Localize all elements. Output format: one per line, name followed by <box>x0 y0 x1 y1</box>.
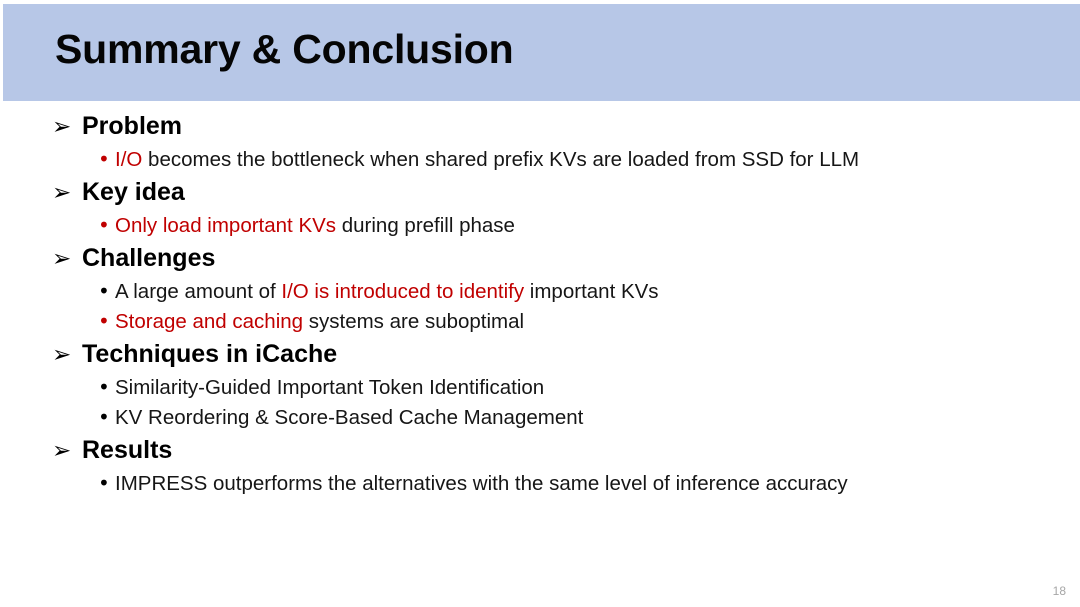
page-number: 18 <box>1053 584 1066 598</box>
text-run: Only load important KVs <box>115 214 336 237</box>
bullet-level1-row: ➢Key idea <box>0 178 1080 214</box>
bullet-level1-row: ➢Challenges <box>0 244 1080 280</box>
bullet-group: ➢Results•IMPRESS outperforms the alterna… <box>0 436 1080 502</box>
arrow-bullet-icon: ➢ <box>52 116 82 139</box>
text-run: during prefill phase <box>336 214 515 237</box>
bullet-level2-text: Similarity-Guided Important Token Identi… <box>115 376 544 400</box>
bullet-level1-row: ➢Problem <box>0 112 1080 148</box>
bullet-level2-row: •IMPRESS outperforms the alternatives wi… <box>0 472 1080 502</box>
text-run: becomes the bottleneck when shared prefi… <box>142 148 859 171</box>
bullet-level1-label: Challenges <box>82 244 215 273</box>
bullet-level2-text: A large amount of I/O is introduced to i… <box>115 280 659 304</box>
slide-canvas: Summary & Conclusion ➢Problem•I/O become… <box>0 0 1080 607</box>
arrow-bullet-icon: ➢ <box>52 248 82 271</box>
arrow-bullet-icon: ➢ <box>52 440 82 463</box>
dot-bullet-icon: • <box>98 407 115 427</box>
text-run: Similarity-Guided Important Token Identi… <box>115 376 544 399</box>
bullet-level2-text: IMPRESS outperforms the alternatives wit… <box>115 472 848 496</box>
page-title: Summary & Conclusion <box>55 26 513 73</box>
bullet-level1-label: Techniques in iCache <box>82 340 337 369</box>
text-run: Storage and caching <box>115 310 303 333</box>
text-run: systems are suboptimal <box>303 310 524 333</box>
dot-bullet-icon: • <box>98 149 115 169</box>
bullet-group: ➢Techniques in iCache•Similarity-Guided … <box>0 340 1080 436</box>
bullet-level2-row: •Similarity-Guided Important Token Ident… <box>0 376 1080 406</box>
text-run: important KVs <box>524 280 658 303</box>
bullet-level2-text: Storage and caching systems are suboptim… <box>115 310 524 334</box>
bullet-level2-row: •Only load important KVs during prefill … <box>0 214 1080 244</box>
text-run: I/O is introduced to identify <box>281 280 524 303</box>
bullet-group: ➢Key idea•Only load important KVs during… <box>0 178 1080 244</box>
bullet-group: ➢Problem•I/O becomes the bottleneck when… <box>0 112 1080 178</box>
bullet-level2-row: •Storage and caching systems are subopti… <box>0 310 1080 340</box>
dot-bullet-icon: • <box>98 473 115 493</box>
bullet-level2-text: KV Reordering & Score-Based Cache Manage… <box>115 406 583 430</box>
dot-bullet-icon: • <box>98 377 115 397</box>
bullet-group: ➢Challenges•A large amount of I/O is int… <box>0 244 1080 340</box>
dot-bullet-icon: • <box>98 281 115 301</box>
bullet-level2-text: Only load important KVs during prefill p… <box>115 214 515 238</box>
bullet-level2-row: •KV Reordering & Score-Based Cache Manag… <box>0 406 1080 436</box>
dot-bullet-icon: • <box>98 311 115 331</box>
text-run: A large amount of <box>115 280 281 303</box>
bullet-level2-text: I/O becomes the bottleneck when shared p… <box>115 148 859 172</box>
bullet-level2-row: •I/O becomes the bottleneck when shared … <box>0 148 1080 178</box>
title-banner: Summary & Conclusion <box>3 4 1080 101</box>
bullet-level2-row: •A large amount of I/O is introduced to … <box>0 280 1080 310</box>
bullet-level1-label: Key idea <box>82 178 185 207</box>
text-run: I/O <box>115 148 142 171</box>
text-run: IMPRESS outperforms the alternatives wit… <box>115 472 848 495</box>
text-run: KV Reordering & Score-Based Cache Manage… <box>115 406 583 429</box>
dot-bullet-icon: • <box>98 215 115 235</box>
arrow-bullet-icon: ➢ <box>52 182 82 205</box>
bullet-list: ➢Problem•I/O becomes the bottleneck when… <box>0 112 1080 502</box>
bullet-level1-row: ➢Techniques in iCache <box>0 340 1080 376</box>
bullet-level1-label: Results <box>82 436 172 465</box>
bullet-level1-label: Problem <box>82 112 182 141</box>
arrow-bullet-icon: ➢ <box>52 344 82 367</box>
bullet-level1-row: ➢Results <box>0 436 1080 472</box>
